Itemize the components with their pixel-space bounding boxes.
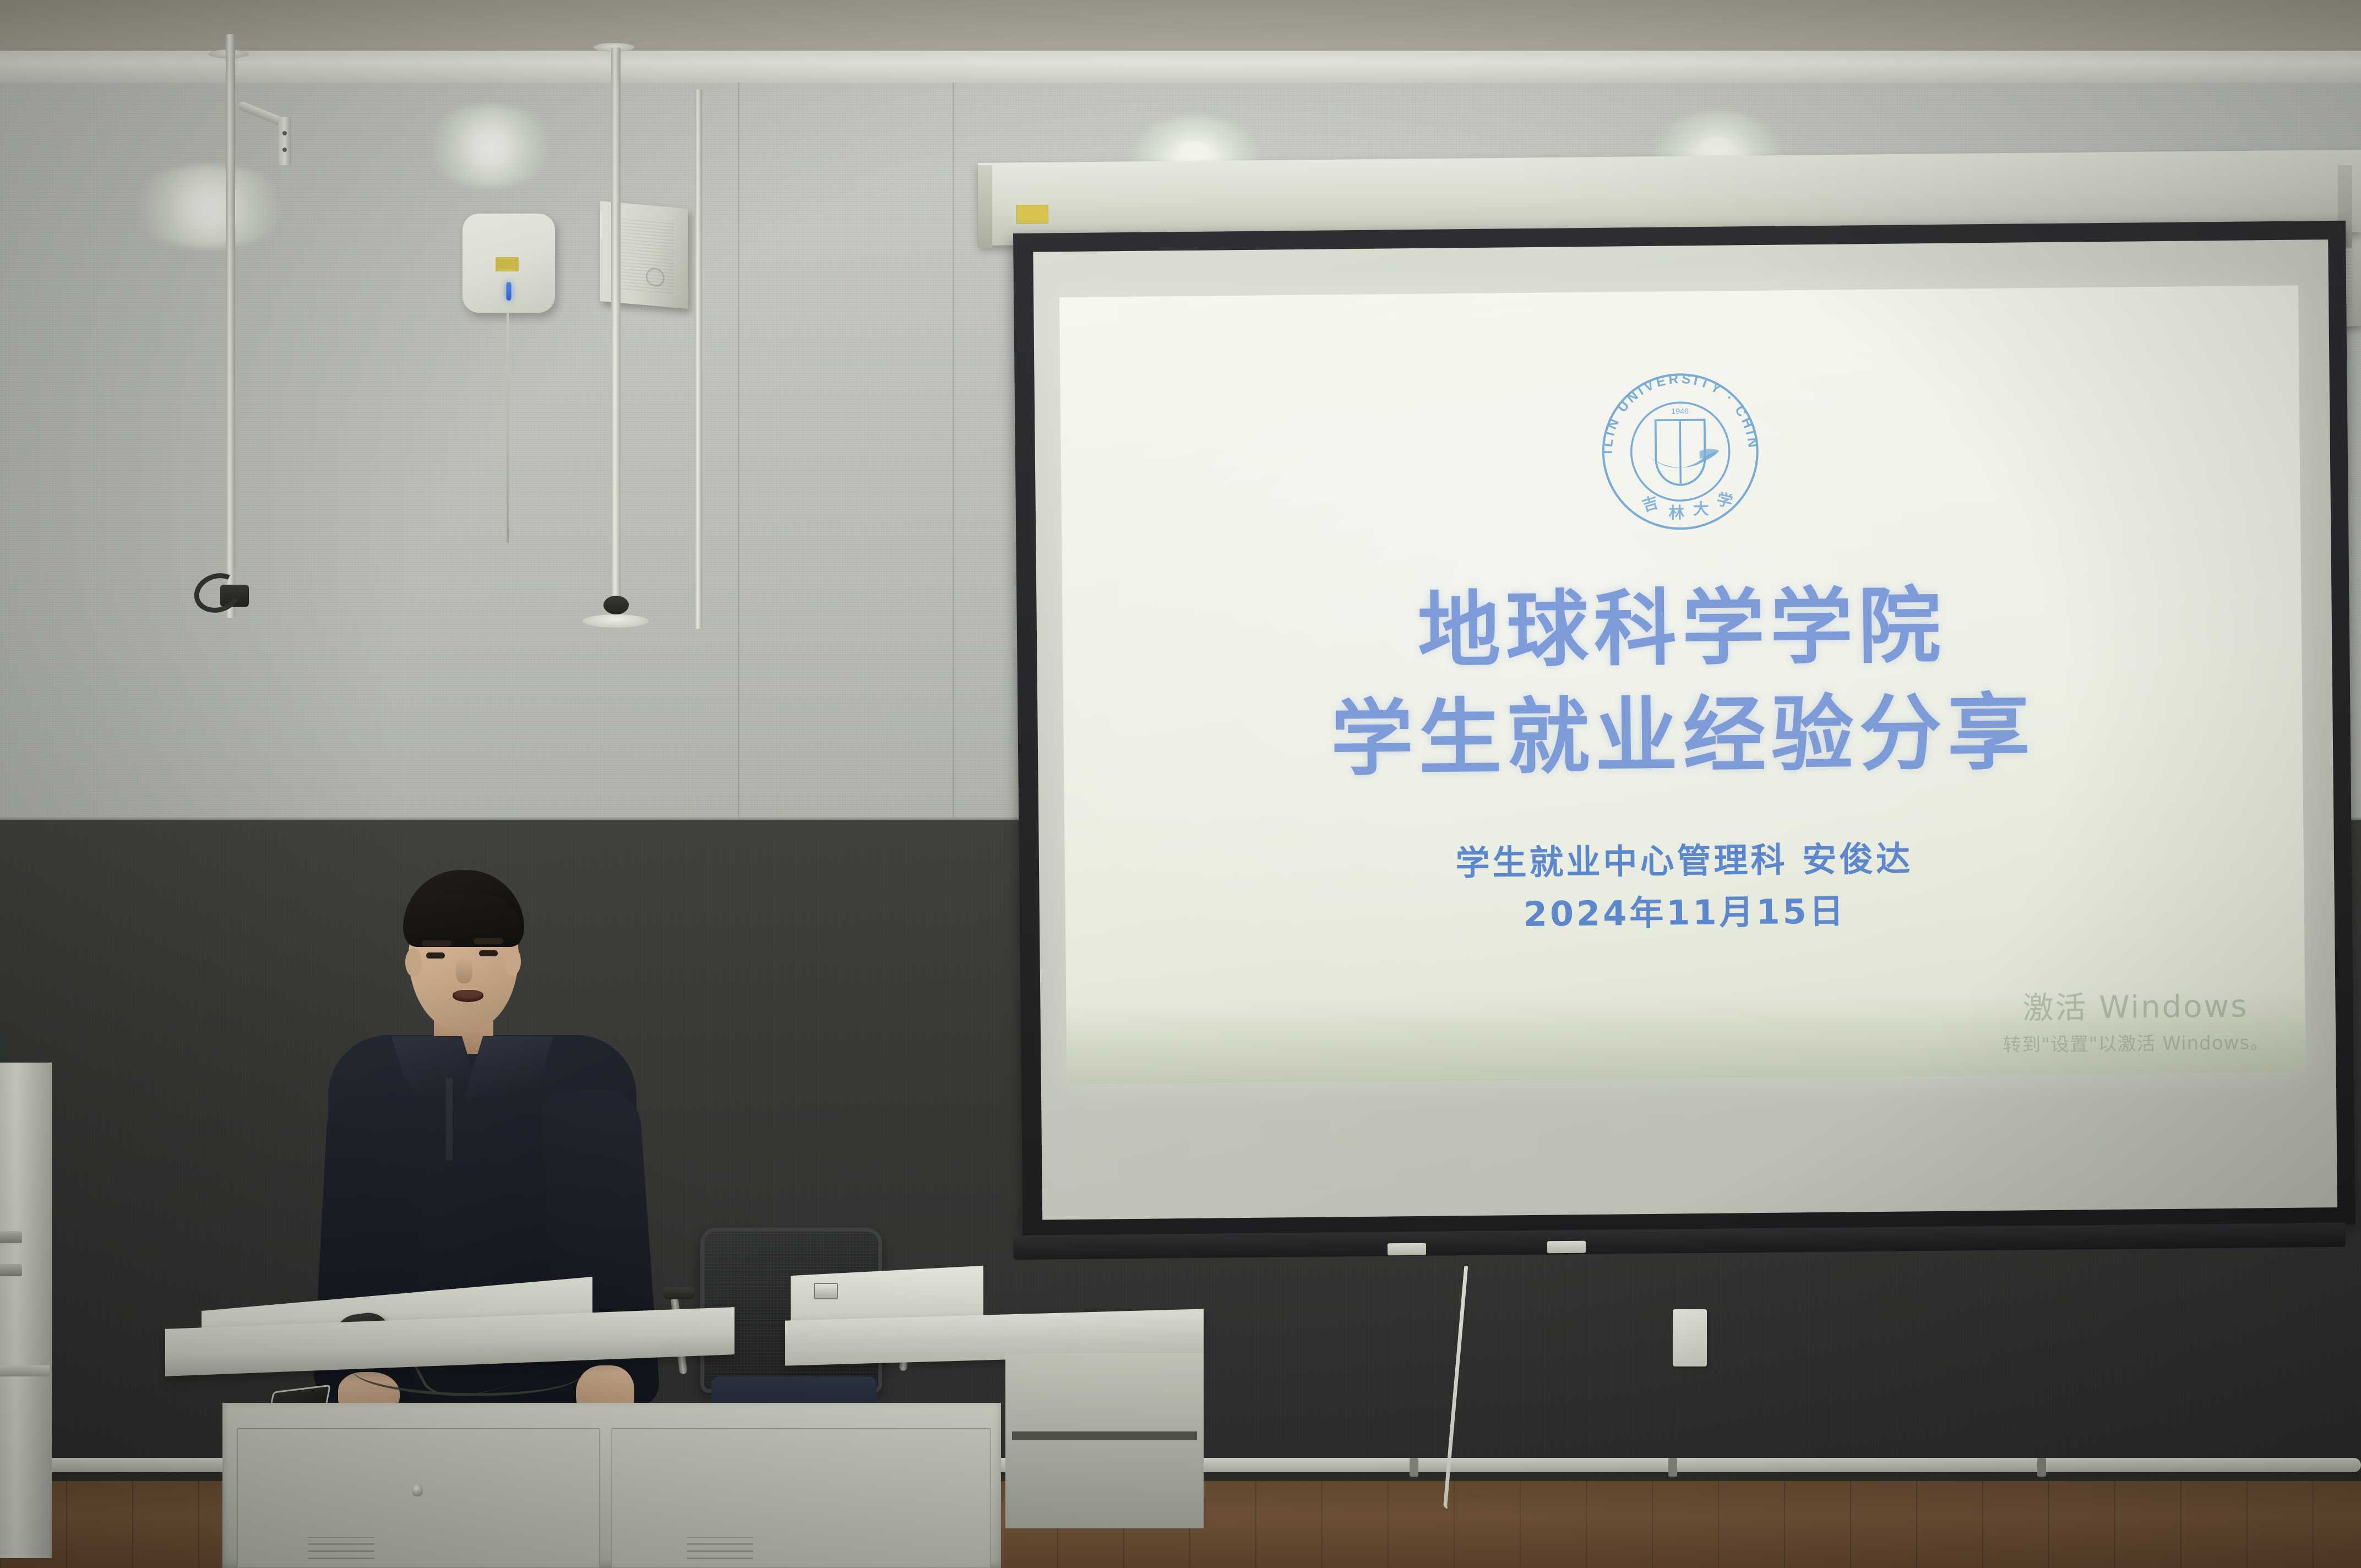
projector-mount-head	[603, 596, 629, 614]
blackboard-chalk-tray	[0, 1365, 50, 1376]
projected-slide: JILIN UNIVERSITY · CHINA 1946 吉 林 大 学 地球…	[1059, 285, 2306, 1085]
screen-warning-label	[1016, 205, 1048, 224]
svg-text:吉: 吉	[1640, 493, 1660, 515]
bracket-hole	[282, 131, 287, 135]
ceiling-spotlight-fixture	[1701, 137, 1732, 152]
wall-conduit	[695, 89, 702, 629]
power-outlet-icon	[1673, 1309, 1707, 1366]
pipe-clip	[1668, 1458, 1677, 1477]
presenter-eye	[426, 952, 445, 959]
svg-text:林: 林	[1668, 503, 1684, 522]
bracket-hole	[282, 148, 287, 152]
presenter-shirt-placket	[446, 1078, 453, 1161]
presenter-eyebrow	[474, 938, 503, 944]
svg-text:大: 大	[1693, 499, 1709, 518]
podium-cabinet-door[interactable]	[611, 1428, 991, 1568]
speaker-grill	[614, 216, 674, 294]
wall-seam	[738, 83, 739, 820]
blackboard-frame	[0, 1063, 52, 1558]
ceiling-slab	[0, 0, 2361, 53]
ceiling-projector-mount-pole	[611, 47, 621, 624]
wifi-ap-label-sticker	[496, 257, 519, 271]
ceiling-spotlight-fixture	[1178, 141, 1209, 156]
ceiling-camera-mount-pole	[226, 34, 235, 618]
presenter-mouth	[453, 990, 483, 1002]
windows-activation-watermark: 激活 Windows 转到"设置"以激活 Windows。	[2002, 989, 2269, 1057]
jilin-university-emblem-icon: JILIN UNIVERSITY · CHINA 1946 吉 林 大 学	[1592, 363, 1769, 540]
presenter-nose	[456, 958, 472, 983]
podium-vent	[687, 1537, 753, 1559]
svg-text:1946: 1946	[1671, 407, 1689, 416]
ceiling-beam	[0, 51, 2361, 85]
screen-tab	[1388, 1243, 1426, 1256]
slide-content: JILIN UNIVERSITY · CHINA 1946 吉 林 大 学 地球…	[1059, 285, 2306, 1085]
slide-subtitle-presenter: 学生就业中心管理科 安俊达	[1455, 833, 1913, 889]
watermark-title: 激活 Windows	[2002, 989, 2268, 1026]
presenter-ear	[504, 947, 521, 976]
presenter-ear	[405, 948, 422, 977]
wifi-access-point-icon	[463, 214, 555, 313]
lecture-hall-scene: JILIN UNIVERSITY · CHINA 1946 吉 林 大 学 地球…	[0, 0, 2361, 1568]
side-desk-body	[1005, 1353, 1204, 1528]
wall-seam	[953, 83, 954, 820]
side-desk-shelf	[1012, 1431, 1197, 1440]
ceiling-mount-bracket	[279, 117, 291, 165]
chair-armrest	[663, 1287, 695, 1299]
slide-title-line-2: 学生就业经验分享	[1330, 679, 2036, 793]
slide-title-line-1: 地球科学学院	[1329, 572, 2035, 686]
podium-cabinet-door[interactable]	[237, 1428, 600, 1568]
presenter-eye	[479, 950, 498, 956]
projector-mount-plate	[583, 614, 649, 628]
presenter-eyebrow	[422, 940, 451, 946]
pipe-clip	[2037, 1458, 2046, 1477]
watermark-subtitle: 转到"设置"以激活 Windows。	[2003, 1027, 2269, 1057]
slide-subtitle-date: 2024年11月15日	[1456, 885, 1913, 941]
desk-switch-plate[interactable]	[814, 1283, 838, 1299]
slide-title: 地球科学学院 学生就业经验分享	[1329, 572, 2036, 793]
screen-housing-endcap	[978, 165, 992, 248]
screen-tab	[1547, 1241, 1586, 1254]
podium-vent	[308, 1537, 374, 1559]
podium-door-lock[interactable]	[412, 1483, 423, 1496]
blackboard-hinge	[0, 1264, 22, 1276]
wifi-ap-status-led	[507, 282, 512, 301]
blackboard-hinge	[0, 1231, 22, 1243]
presenter-hairline	[405, 894, 522, 947]
wifi-ap-cable	[507, 312, 509, 543]
pipe-clip	[1410, 1458, 1418, 1477]
slide-subtitle: 学生就业中心管理科 安俊达 2024年11月15日	[1455, 833, 1913, 941]
